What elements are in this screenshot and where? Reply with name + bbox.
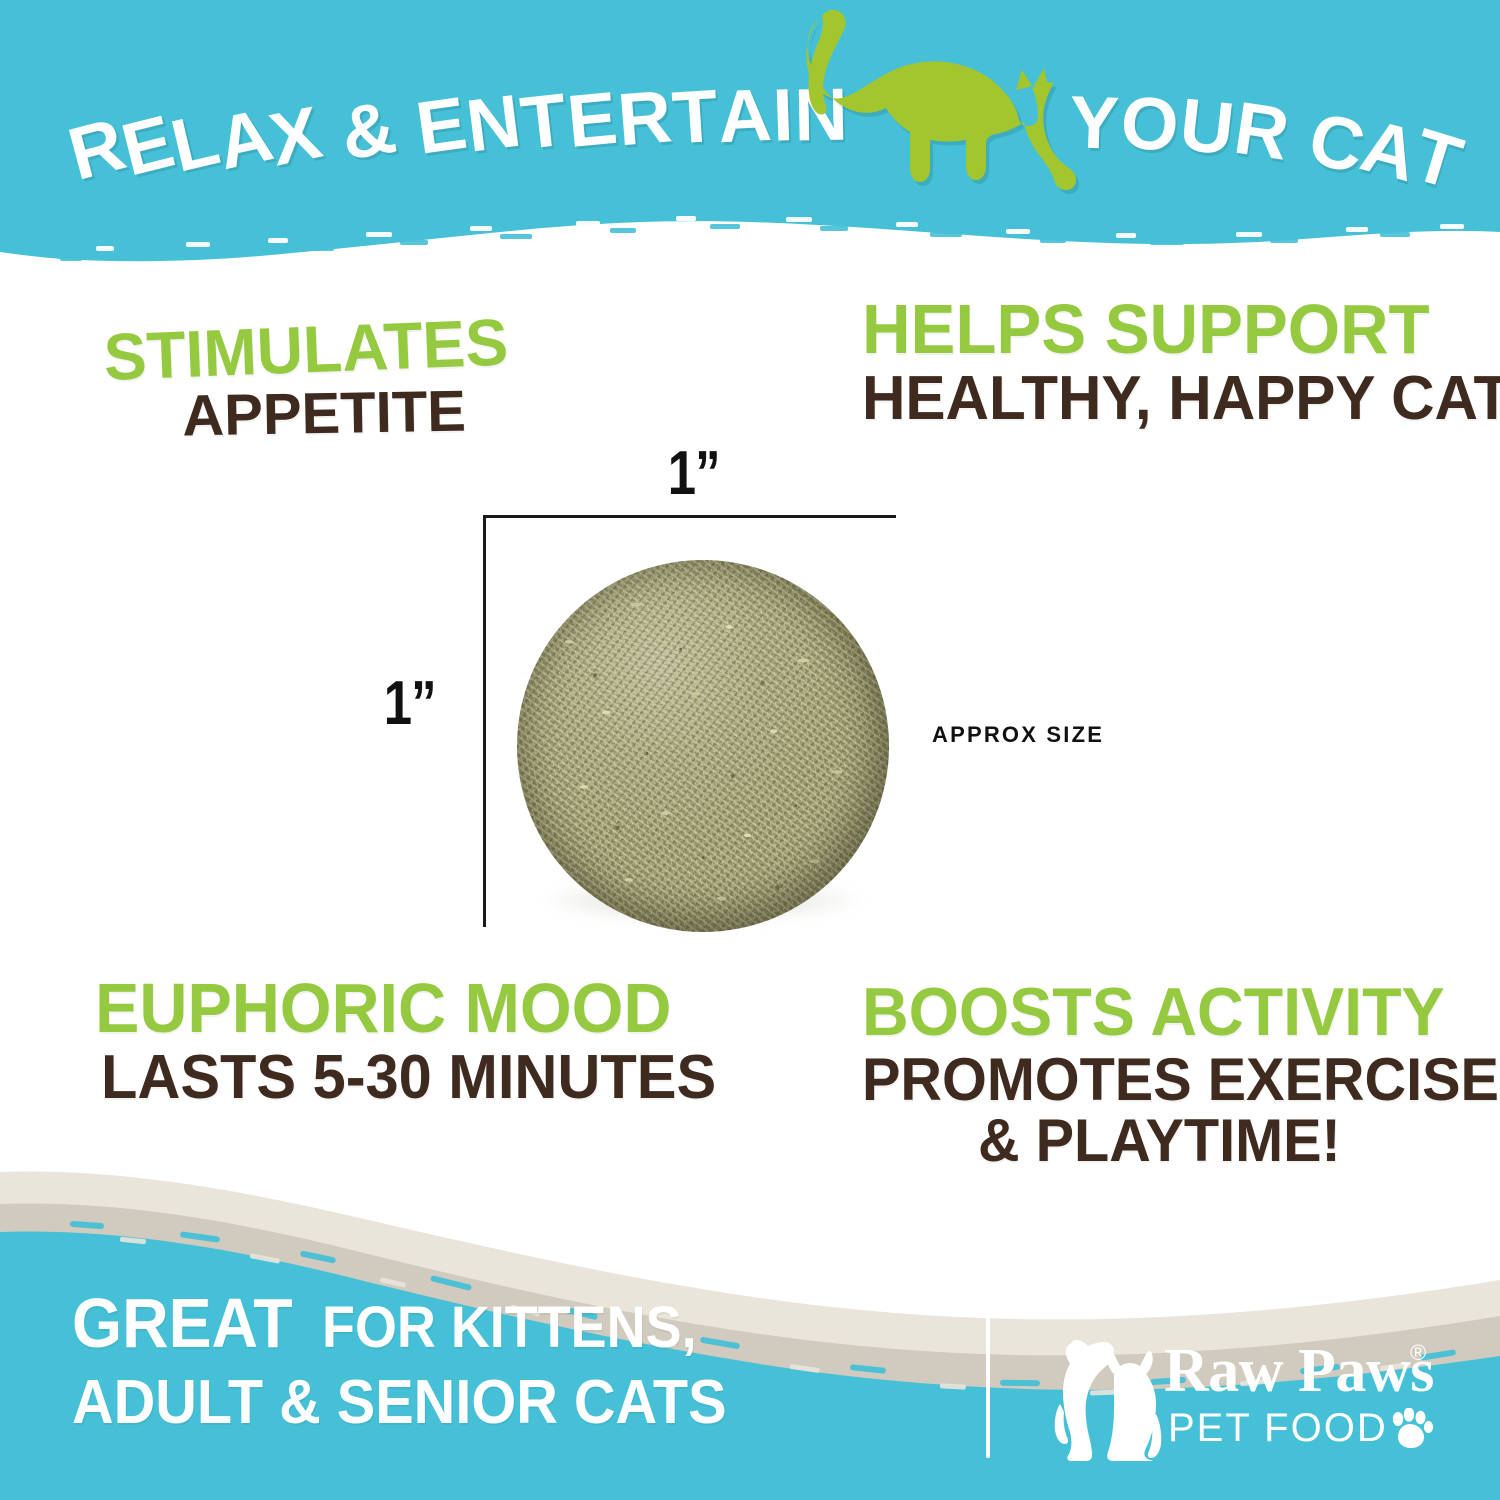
logo-subtitle: PET FOOD bbox=[1168, 1406, 1388, 1451]
footer-headline: GREATFOR KITTENS, ADULT & SENIOR CATS bbox=[72, 1288, 776, 1434]
paw-print-icon bbox=[1388, 1408, 1434, 1452]
feature-boosts-activity: BOOSTS ACTIVITY PROMOTES EXERCISE & PLAY… bbox=[862, 980, 1500, 1171]
dog-and-cat-icon bbox=[1052, 1330, 1162, 1462]
logo-wordmark: Raw Paws bbox=[1164, 1336, 1434, 1407]
raw-paws-logo[interactable]: Raw Paws ® PET FOOD bbox=[1052, 1330, 1452, 1466]
footer-great-word: GREAT bbox=[72, 1288, 293, 1358]
ball-edge-shading bbox=[517, 560, 889, 932]
measure-line-horizontal bbox=[483, 515, 896, 518]
infographic-page: RELAX & ENTERTAIN YOUR CAT STIMULATES AP… bbox=[0, 0, 1500, 1500]
feature-subline: LASTS 5-30 MINUTES bbox=[101, 1048, 716, 1109]
dimension-label-width: 1” bbox=[668, 438, 720, 509]
feature-subline: PROMOTES EXERCISE bbox=[862, 1051, 1499, 1110]
size-diagram: 1” 1” APPROX SIZE bbox=[0, 0, 1500, 1000]
footer-line-2: ADULT & SENIOR CATS bbox=[72, 1372, 727, 1434]
footer-line-1: GREATFOR KITTENS, bbox=[72, 1288, 776, 1358]
footer-divider bbox=[986, 1292, 990, 1458]
logo-text-block: Raw Paws ® PET FOOD bbox=[1164, 1336, 1454, 1464]
registered-trademark-icon: ® bbox=[1410, 1340, 1426, 1366]
approx-size-label: APPROX SIZE bbox=[932, 722, 1104, 748]
catnip-ball-product-image bbox=[517, 560, 889, 932]
dimension-label-height: 1” bbox=[384, 668, 436, 739]
measure-line-vertical bbox=[483, 515, 486, 927]
footer-kittens-text: FOR KITTENS, bbox=[322, 1299, 697, 1357]
